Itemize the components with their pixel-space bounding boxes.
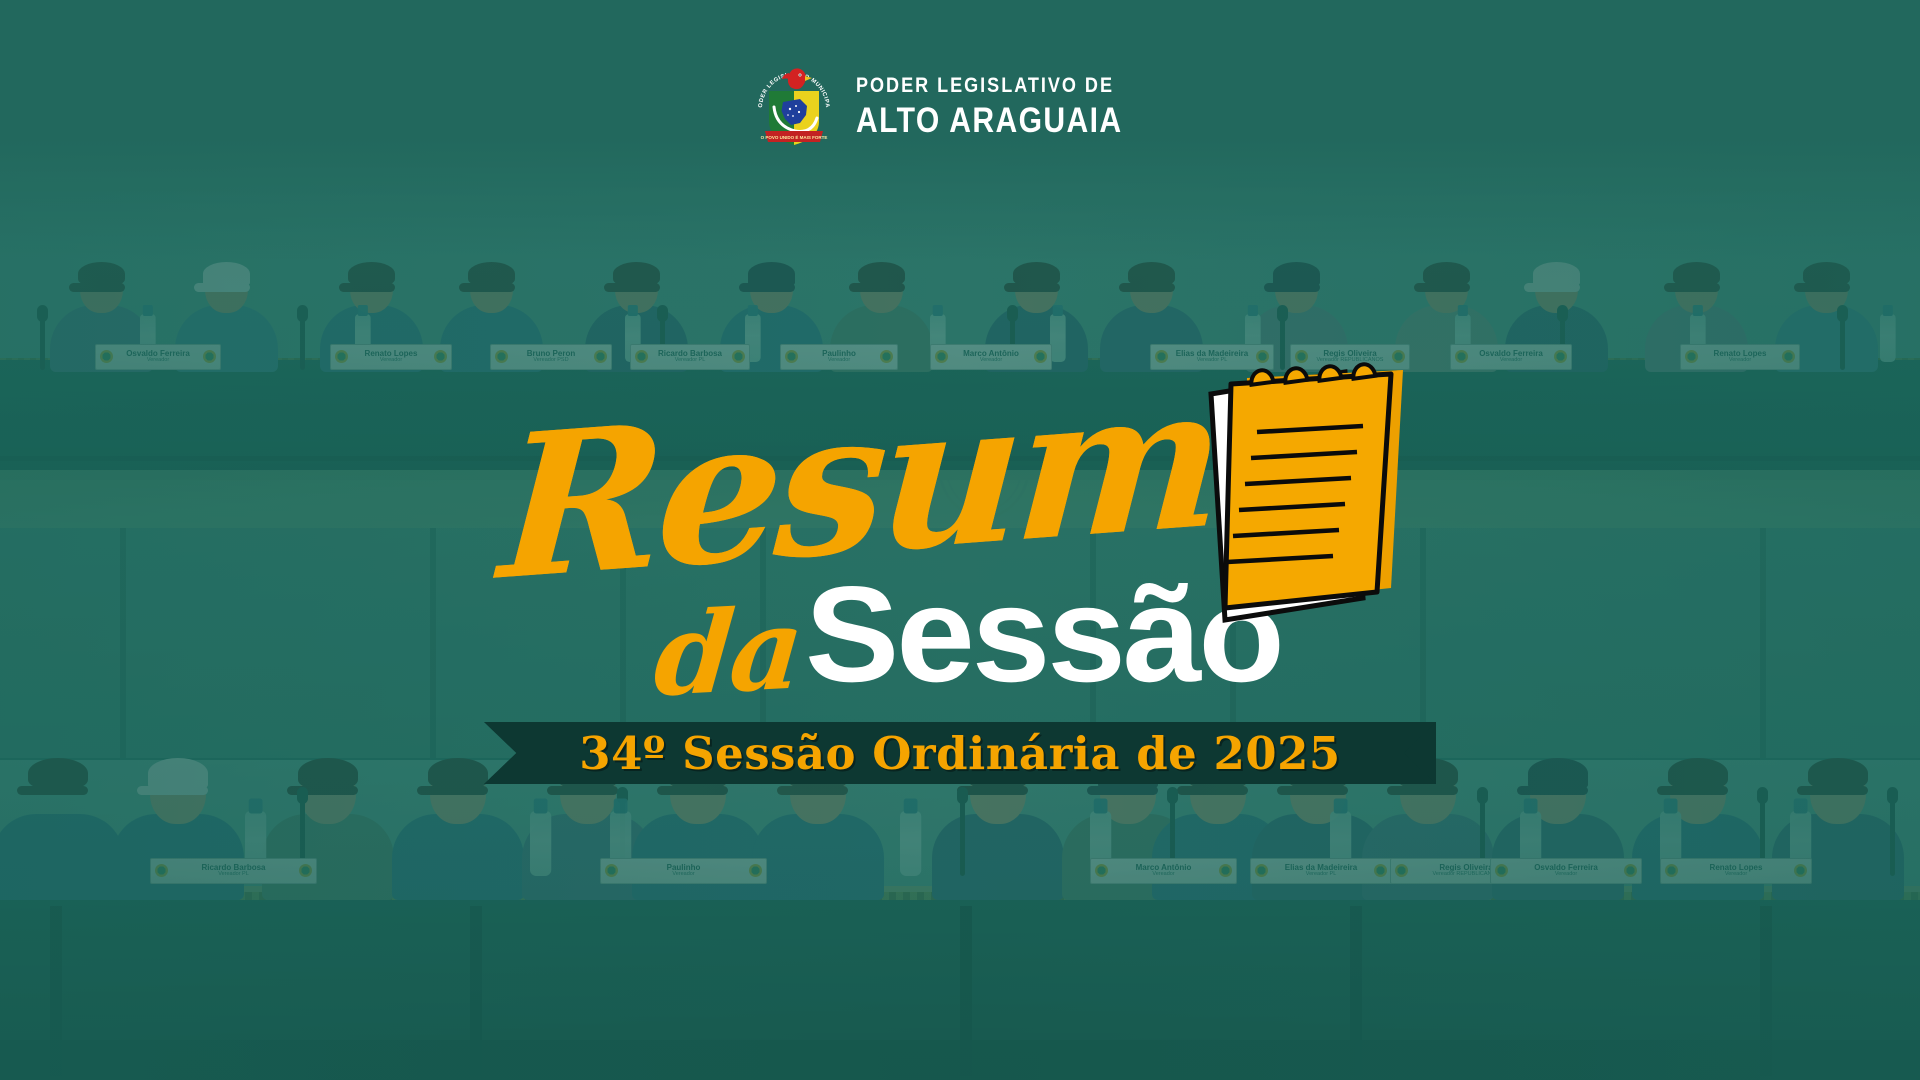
- poster-canvas: Osvaldo FerreiraVereadorRenato LopesVere…: [0, 0, 1920, 1080]
- session-ribbon-text: 34º Sessão Ordinária de 2025: [579, 727, 1340, 780]
- session-ribbon-inner: 34º Sessão Ordinária de 2025: [484, 722, 1436, 784]
- coat-of-arms-icon: PODER LEGISLATIVO MUNICIPAL O POVO UNIDO…: [754, 63, 834, 149]
- brand-text: PODER LEGISLATIVO DE ALTO ARAGUAIA: [856, 75, 1166, 138]
- title-resumo: Resumo: [0, 380, 1920, 576]
- session-ribbon: 34º Sessão Ordinária de 2025: [484, 722, 1436, 784]
- brand-line-2: ALTO ARAGUAIA: [856, 103, 1122, 138]
- brand-line-1: PODER LEGISLATIVO DE: [856, 75, 1122, 96]
- title-da: da: [652, 601, 805, 705]
- notepad-icon: [1195, 358, 1425, 628]
- title-second-line: da Sessão: [0, 576, 1920, 693]
- header-brand: PODER LEGISLATIVO MUNICIPAL O POVO UNIDO…: [0, 58, 1920, 154]
